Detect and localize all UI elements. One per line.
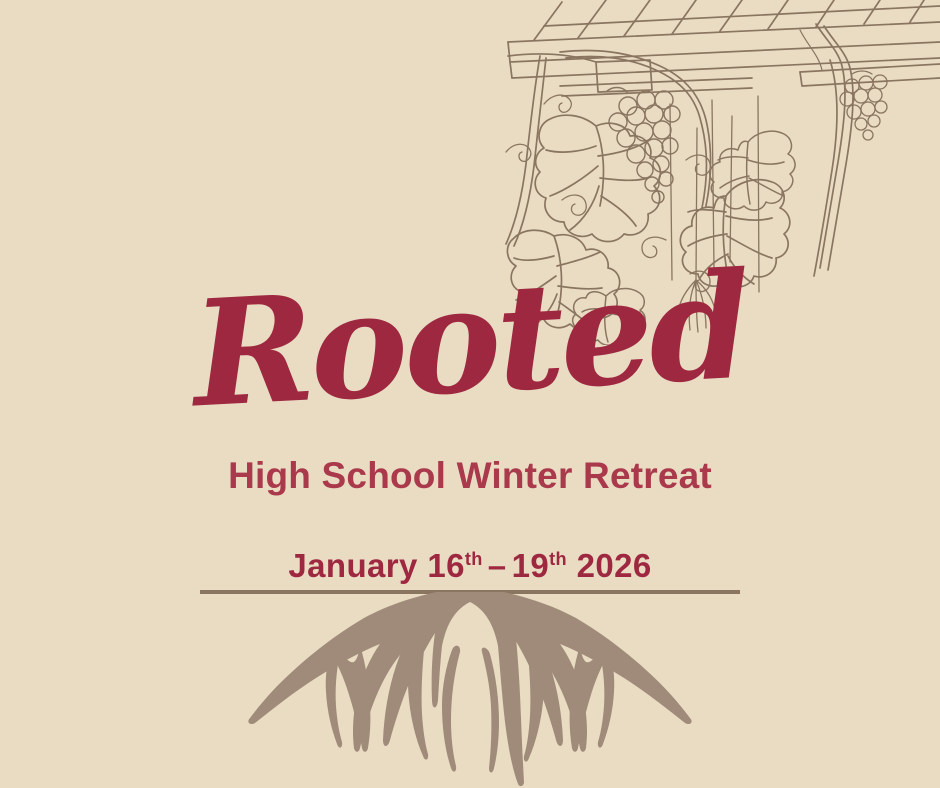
tree-roots-silhouette (240, 592, 700, 788)
page-title: Rooted (0, 244, 940, 439)
grape-cluster-large (606, 88, 680, 204)
grape-leaf-upper-left (535, 115, 660, 241)
ground-line (200, 590, 740, 594)
date-end-ordinal: th (549, 549, 567, 569)
date-year: 2026 (577, 547, 652, 584)
event-date: January 16th–19th 2026 (0, 548, 940, 584)
date-start-day: 16 (427, 547, 465, 584)
subtitle: High School Winter Retreat (0, 456, 940, 497)
grape-cluster-small (840, 71, 887, 140)
vine-stems (506, 24, 853, 276)
date-start-ordinal: th (465, 549, 483, 569)
date-month: January (288, 547, 417, 584)
date-end-day: 19 (512, 547, 550, 584)
roots-shape (248, 592, 691, 786)
pergola-beams (508, 0, 940, 96)
grape-leaf-upper-center (710, 131, 795, 210)
date-separator: – (483, 547, 512, 584)
retreat-poster: Rooted High School Winter Retreat Januar… (0, 0, 940, 788)
page-title-block: Rooted (0, 268, 940, 414)
